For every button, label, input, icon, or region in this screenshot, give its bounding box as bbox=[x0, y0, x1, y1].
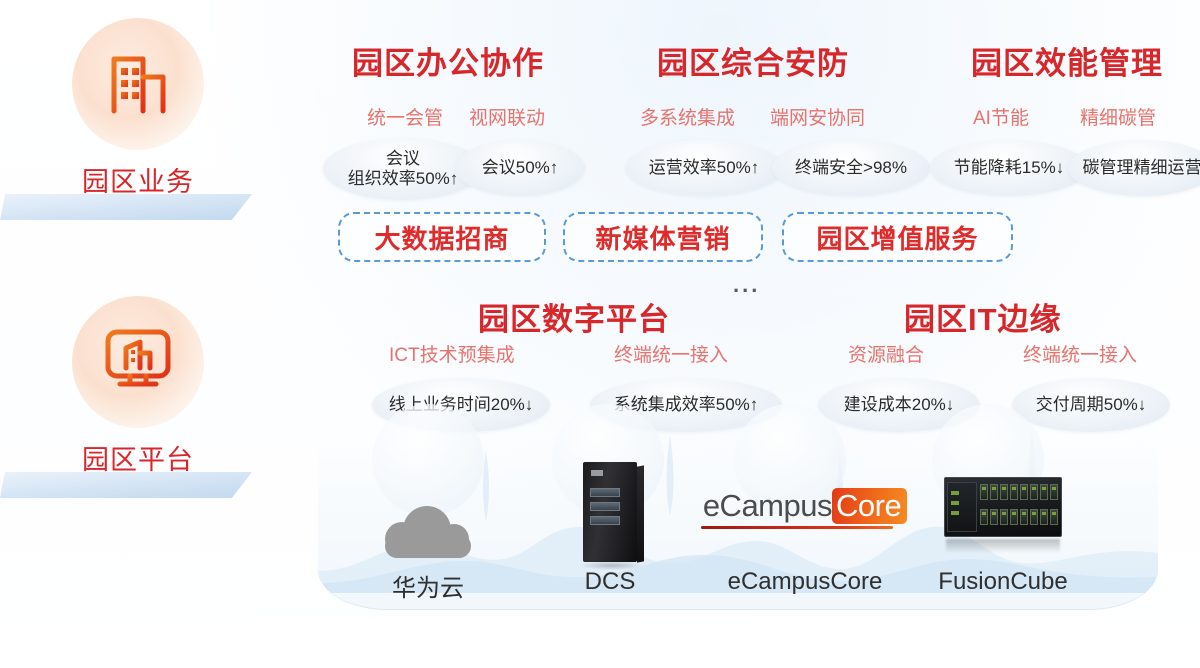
metric-text: 会议50%↑ bbox=[482, 158, 559, 178]
section-title-office: 园区办公协作 bbox=[352, 38, 544, 83]
capsule-label: 大数据招商 bbox=[374, 219, 509, 256]
sub-label-multisystem: 多系统集成 bbox=[640, 103, 735, 130]
product-dcs[interactable]: DCS bbox=[525, 452, 695, 596]
capsule-label: 新媒体营销 bbox=[595, 219, 730, 256]
metric-text: 运营效率50%↑ bbox=[649, 158, 760, 178]
ellipsis-more: ... bbox=[733, 272, 760, 298]
sub-label-terminal-access-1: 终端统一接入 bbox=[614, 340, 728, 367]
platform-icon-circle bbox=[72, 296, 204, 428]
rail-label-business: 园区业务 bbox=[8, 160, 268, 199]
building-icon bbox=[101, 49, 175, 119]
capsule-value-added-services[interactable]: 园区增值服务 bbox=[782, 212, 1013, 262]
sub-label-resource-convergence: 资源融合 bbox=[848, 340, 924, 367]
metric-pill-ops-efficiency: 运营效率50%↑ bbox=[625, 140, 783, 196]
metric-text: 碳管理精细运营 bbox=[1083, 158, 1200, 178]
server-rack-icon bbox=[525, 452, 695, 562]
business-icon-circle bbox=[72, 18, 204, 150]
sub-label-terminal-access-2: 终端统一接入 bbox=[1023, 340, 1137, 367]
sub-label-ai-energy: AI节能 bbox=[973, 103, 1029, 130]
metric-pill-endpoint-security: 终端安全>98% bbox=[772, 140, 930, 196]
section-title-digital-platform: 园区数字平台 bbox=[478, 294, 670, 339]
ecampuscore-logo: eCampusCore bbox=[705, 452, 905, 562]
sub-label-edge-network-security: 端网安协同 bbox=[770, 103, 865, 130]
cloud-icon bbox=[343, 452, 513, 562]
infographic-canvas: 园区业务 园区平台 园区办公协作 园区综合安防 园区效能管理 统一会管 视网联动 bbox=[0, 0, 1200, 668]
metric-text: 终端安全>98% bbox=[795, 158, 907, 178]
metric-line-2: 组织效率50%↑ bbox=[348, 169, 459, 188]
rail-node-platform[interactable]: 园区平台 bbox=[8, 296, 268, 477]
metric-text: 建设成本20%↓ bbox=[844, 395, 955, 415]
capsule-label: 园区增值服务 bbox=[816, 219, 978, 256]
product-name: FusionCube bbox=[903, 568, 1103, 596]
product-ecampuscore[interactable]: eCampusCore eCampusCore bbox=[705, 452, 905, 596]
sub-label-video-network: 视网联动 bbox=[469, 103, 545, 130]
logo-underline bbox=[701, 526, 893, 529]
sub-label-unified-meeting: 统一会管 bbox=[367, 103, 443, 130]
section-title-it-edge: 园区IT边缘 bbox=[904, 294, 1062, 339]
section-title-efficiency: 园区效能管理 bbox=[971, 38, 1163, 83]
metric-pill-delivery-cycle: 交付周期50%↓ bbox=[1012, 378, 1170, 432]
logo-text-part1: eCampus bbox=[703, 488, 832, 523]
product-huawei-cloud[interactable]: 华为云 bbox=[343, 452, 513, 603]
metric-pill-energy-saving: 节能降耗15%↓ bbox=[930, 140, 1088, 196]
metric-line-1: 会议 bbox=[386, 149, 420, 168]
sub-label-carbon-mgmt: 精细碳管 bbox=[1080, 103, 1156, 130]
product-fusioncube[interactable]: FusionCube bbox=[903, 452, 1103, 596]
monitor-building-icon bbox=[100, 326, 176, 398]
rail-label-platform: 园区平台 bbox=[8, 438, 268, 477]
metric-text: 交付周期50%↓ bbox=[1036, 395, 1147, 415]
metric-pill-meeting-50: 会议50%↑ bbox=[455, 140, 585, 196]
product-name: DCS bbox=[525, 568, 695, 596]
capsule-bigdata-investment[interactable]: 大数据招商 bbox=[338, 212, 546, 262]
capsule-new-media-marketing[interactable]: 新媒体营销 bbox=[563, 212, 763, 262]
product-name: 华为云 bbox=[343, 568, 513, 603]
section-title-security: 园区综合安防 bbox=[657, 38, 849, 83]
fusioncube-chassis-icon bbox=[903, 452, 1103, 562]
metric-text: 节能降耗15%↓ bbox=[954, 158, 1065, 178]
product-name: eCampusCore bbox=[705, 568, 905, 596]
metric-pill-carbon-ops: 碳管理精细运营 bbox=[1068, 140, 1200, 196]
sub-label-ict-preintegration: ICT技术预集成 bbox=[389, 340, 515, 367]
rail-node-business[interactable]: 园区业务 bbox=[8, 18, 268, 199]
logo-text-part2: Core bbox=[832, 488, 907, 524]
